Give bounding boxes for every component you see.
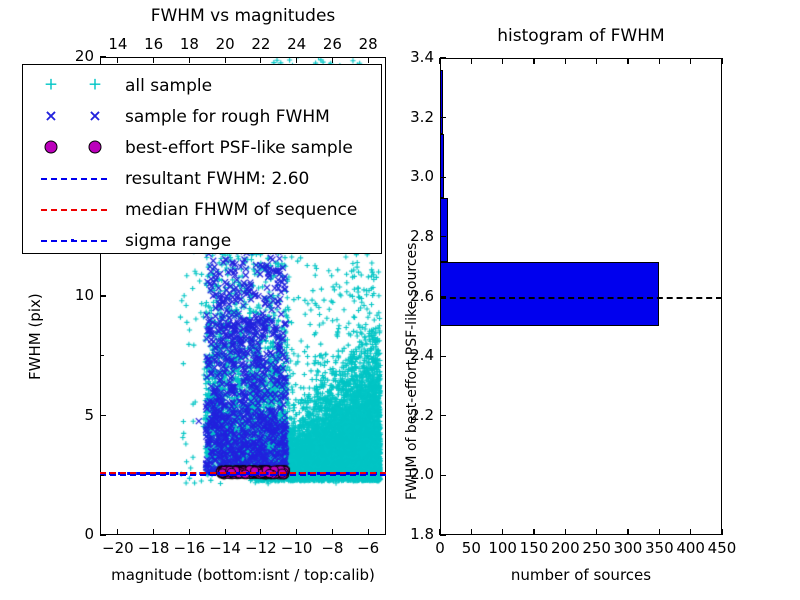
y-tick-label: 3.2 bbox=[392, 108, 434, 126]
axis-tick bbox=[225, 529, 226, 535]
axis-tick bbox=[565, 58, 566, 64]
axis-tick bbox=[440, 534, 446, 535]
left-panel-xlabel: magnitude (bottom:isnt / top:calib) bbox=[100, 566, 386, 584]
x-tick-label-top: 22 bbox=[241, 35, 281, 53]
axis-tick bbox=[690, 58, 691, 64]
axis-tick bbox=[332, 57, 333, 63]
axis-tick bbox=[721, 58, 722, 64]
axis-tick bbox=[690, 529, 691, 535]
axis-tick bbox=[100, 355, 104, 356]
legend-item-label: sample for rough FWHM bbox=[125, 107, 330, 127]
axis-tick bbox=[440, 356, 446, 357]
axis-tick bbox=[260, 529, 261, 535]
axis-tick bbox=[502, 58, 503, 64]
axis-tick bbox=[533, 58, 534, 64]
axis-tick bbox=[533, 529, 534, 535]
axis-tick bbox=[440, 57, 446, 58]
axis-tick bbox=[565, 529, 566, 535]
axis-tick bbox=[260, 57, 261, 63]
legend-item-label: sigma range bbox=[125, 231, 231, 251]
legend-item-label: best-effort PSF-like sample bbox=[125, 138, 353, 158]
axis-tick bbox=[659, 529, 660, 535]
legend-item: ++all sample bbox=[29, 70, 381, 101]
y-tick-label: 3.4 bbox=[392, 48, 434, 66]
axis-tick bbox=[627, 529, 628, 535]
x-tick-label: 450 bbox=[703, 539, 741, 557]
axis-tick bbox=[440, 236, 446, 237]
x-tick-label-bottom: −6 bbox=[346, 539, 390, 557]
x-tick-label-top: 14 bbox=[98, 35, 138, 53]
y-tick-label: 5 bbox=[52, 406, 94, 424]
axis-tick bbox=[153, 529, 154, 535]
left-panel-title: FWHM vs magnitudes bbox=[100, 6, 386, 26]
axis-tick bbox=[100, 475, 104, 476]
left-panel-ylabel: FWHM (pix) bbox=[26, 293, 44, 380]
axis-tick bbox=[440, 177, 446, 178]
circle-marker-icon bbox=[29, 132, 125, 163]
axis-tick bbox=[440, 475, 446, 476]
resultant-fwhm-line bbox=[100, 474, 386, 476]
histogram-reference-line bbox=[440, 297, 722, 299]
axis-tick bbox=[659, 58, 660, 64]
axis-tick bbox=[368, 529, 369, 535]
axis-tick bbox=[100, 56, 106, 57]
axis-tick bbox=[189, 57, 190, 63]
legend-item-label: resultant FWHM: 2.60 bbox=[125, 169, 309, 189]
histogram-bar[interactable] bbox=[440, 198, 448, 262]
x-tick-label-top: 18 bbox=[169, 35, 209, 53]
y-tick-label: 10 bbox=[52, 286, 94, 304]
y-tick-label: 1.8 bbox=[392, 525, 434, 543]
dashed-line-icon bbox=[29, 163, 125, 194]
legend-item-label: all sample bbox=[125, 76, 212, 96]
x-tick-label-top: 24 bbox=[277, 35, 317, 53]
y-tick-label: 20 bbox=[52, 47, 94, 65]
axis-tick bbox=[440, 117, 446, 118]
legend-item: median FHWM of sequence bbox=[29, 194, 381, 225]
axis-tick bbox=[439, 58, 440, 64]
legend-item: best-effort PSF-like sample bbox=[29, 132, 381, 163]
plus-marker-icon: ++ bbox=[29, 70, 125, 101]
x-tick-label-top: 20 bbox=[205, 35, 245, 53]
axis-tick bbox=[296, 529, 297, 535]
right-panel-title: histogram of FWHM bbox=[440, 26, 722, 46]
legend-item: sigma range bbox=[29, 225, 381, 256]
axis-tick bbox=[440, 415, 446, 416]
dash-dot-line-icon bbox=[29, 225, 125, 256]
legend-item-label: median FHWM of sequence bbox=[125, 200, 357, 220]
right-panel-xlabel: number of sources bbox=[440, 566, 722, 584]
histogram-bar[interactable] bbox=[440, 134, 444, 198]
axis-tick bbox=[596, 529, 597, 535]
x-tick-label-top: 28 bbox=[348, 35, 388, 53]
axis-tick bbox=[332, 529, 333, 535]
axis-tick bbox=[100, 295, 106, 296]
axis-tick bbox=[117, 57, 118, 63]
histogram-bar[interactable] bbox=[440, 70, 443, 134]
axis-tick bbox=[296, 57, 297, 63]
axis-tick bbox=[721, 529, 722, 535]
axis-tick bbox=[502, 529, 503, 535]
legend-box: ++all sample××sample for rough FWHMbest-… bbox=[22, 64, 382, 254]
axis-tick bbox=[189, 529, 190, 535]
axis-tick bbox=[471, 58, 472, 64]
y-tick-label: 3.0 bbox=[392, 167, 434, 185]
axis-tick bbox=[440, 296, 446, 297]
axis-tick bbox=[100, 534, 106, 535]
axis-tick bbox=[153, 57, 154, 63]
legend-item: resultant FWHM: 2.60 bbox=[29, 163, 381, 194]
figure-canvas: FWHM vs magnitudes 1416182022242628 −20−… bbox=[0, 0, 800, 600]
axis-tick bbox=[471, 529, 472, 535]
x-tick-label-top: 26 bbox=[312, 35, 352, 53]
dashed-line-icon bbox=[29, 194, 125, 225]
x-tick-label-top: 16 bbox=[134, 35, 174, 53]
legend-item: ××sample for rough FWHM bbox=[29, 101, 381, 132]
cross-marker-icon: ×× bbox=[29, 101, 125, 132]
y-tick-label: 0 bbox=[52, 525, 94, 543]
axis-tick bbox=[627, 58, 628, 64]
axis-tick bbox=[117, 529, 118, 535]
right-panel-ylabel: FWHM of best-effort PSF-like sources bbox=[404, 243, 420, 500]
axis-tick bbox=[100, 415, 106, 416]
axis-tick bbox=[225, 57, 226, 63]
axis-tick bbox=[368, 57, 369, 63]
histogram-bar[interactable] bbox=[440, 262, 659, 326]
axis-tick bbox=[596, 58, 597, 64]
